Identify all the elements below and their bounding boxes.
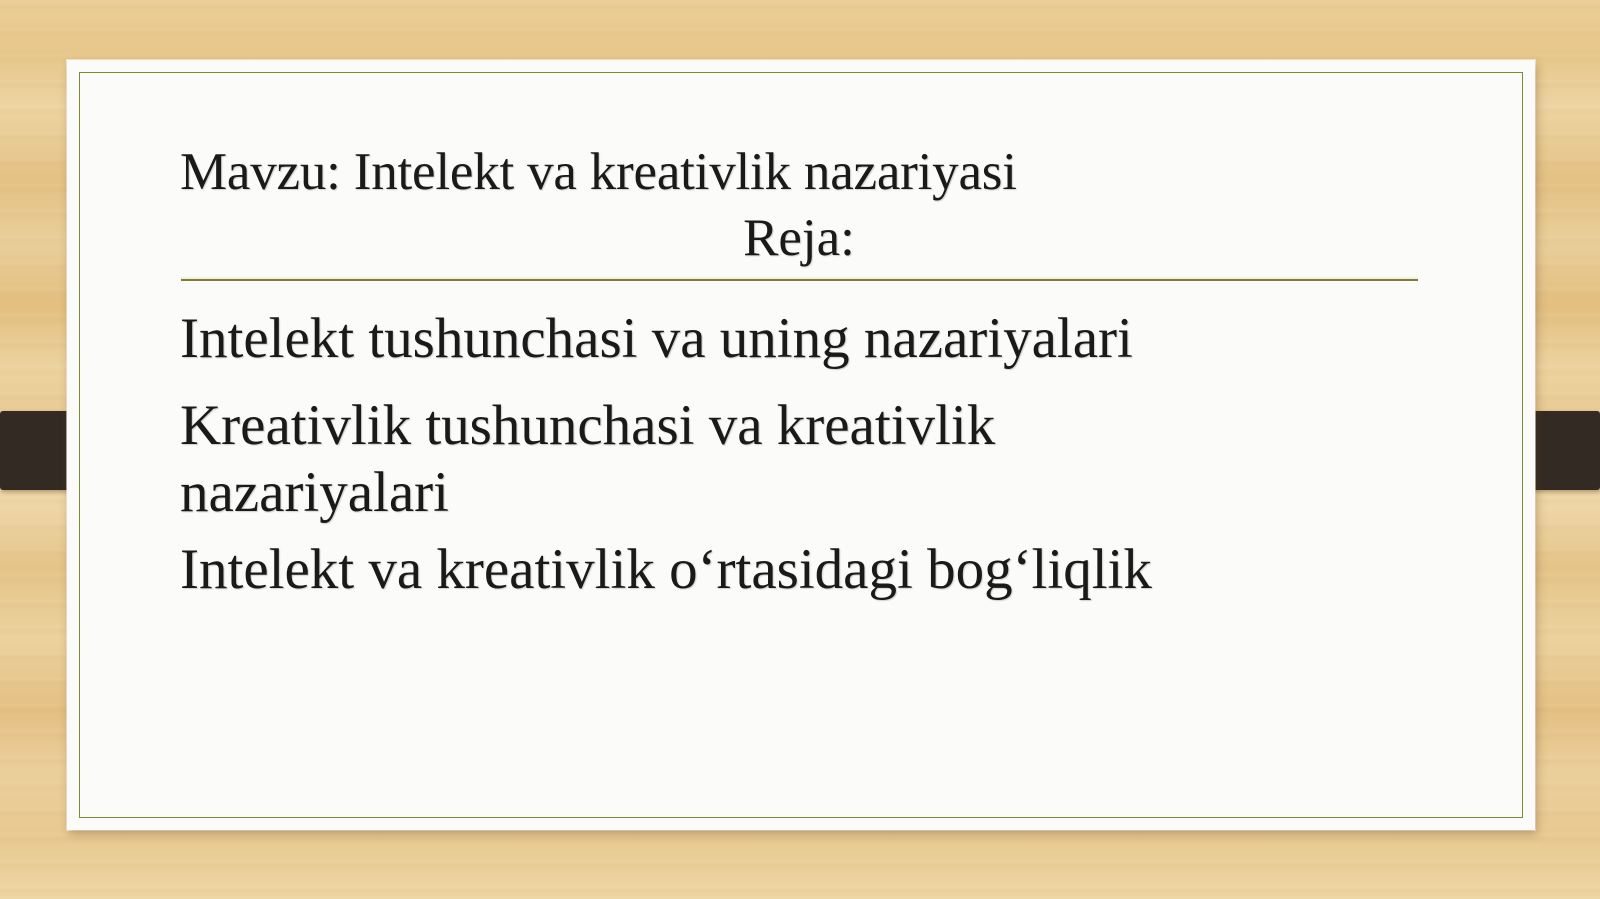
slide-content-card: Mavzu: Intelekt va kreativlik nazariyasi… [67, 60, 1535, 830]
slide-text-block: Mavzu: Intelekt va kreativlik nazariyasi… [180, 145, 1430, 599]
agenda-item-2: Kreativlik tushunchasi va kreativlik naz… [180, 392, 1260, 527]
slide-title: Mavzu: Intelekt va kreativlik nazariyasi [180, 145, 1430, 199]
horizontal-rule [181, 279, 1418, 281]
agenda-heading: Reja: [180, 211, 1418, 265]
agenda-item-1: Intelekt tushunchasi va uning nazariyala… [180, 310, 1430, 368]
presentation-slide: Mavzu: Intelekt va kreativlik nazariyasi… [0, 0, 1600, 899]
agenda-item-3: Intelekt va kreativlik oʻrtasidagi bogʻl… [180, 541, 1430, 599]
subtitle-section: Reja: [180, 211, 1430, 297]
